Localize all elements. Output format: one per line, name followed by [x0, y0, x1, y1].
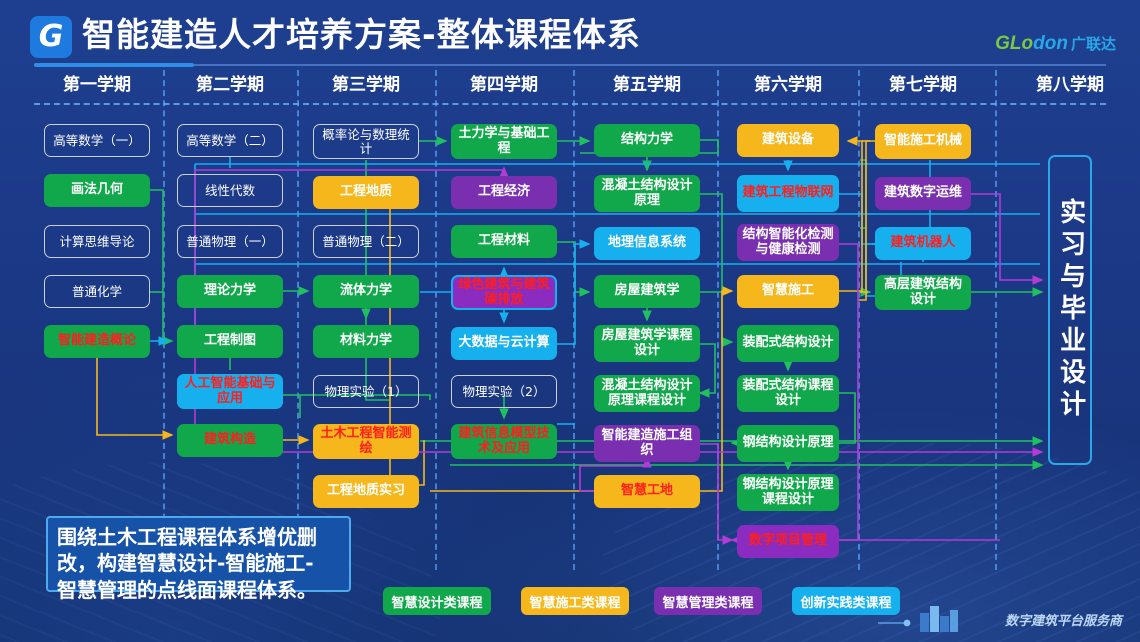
course-box-c4_3[interactable]: 工程材料: [451, 225, 557, 258]
course-box-c6_1[interactable]: 建筑设备: [737, 124, 839, 157]
course-label: 理论力学: [201, 284, 259, 299]
course-label: 人工智能基础与应用: [177, 377, 283, 406]
course-label: 普通物理（一）: [183, 235, 277, 249]
course-box-c1_1[interactable]: 高等数学（一）: [44, 124, 150, 157]
semester-header-7: 第七学期: [863, 70, 983, 95]
callout-line-2: 改，构建智慧设计-智能施工-: [57, 550, 340, 576]
course-label: 建筑机器人: [887, 236, 958, 251]
course-box-c4_2[interactable]: 工程经济: [451, 176, 557, 209]
course-label: 高等数学（二）: [183, 134, 277, 148]
course-label: 地理信息系统: [605, 236, 689, 251]
course-box-c4_7[interactable]: 建筑信息模型技术及应用: [451, 424, 557, 459]
course-box-c2_1[interactable]: 高等数学（二）: [177, 124, 283, 157]
course-box-c6_3[interactable]: 结构智能化检测与健康检测: [737, 224, 839, 261]
course-box-c3_7[interactable]: 土木工程智能测绘: [313, 424, 419, 459]
column-divider-7: [995, 70, 997, 570]
course-box-c6_4[interactable]: 智慧施工: [737, 275, 839, 308]
course-box-c7_4[interactable]: 高层建筑结构设计: [875, 275, 971, 310]
footer-brand: 数字建筑平台服务商: [878, 604, 1122, 634]
column-divider-3: [435, 70, 437, 570]
course-box-c5_2[interactable]: 混凝土结构设计原理: [594, 175, 700, 212]
course-label: 工程经济: [475, 185, 533, 200]
course-label: 建筑数字运维: [881, 186, 965, 201]
brand-part-glo: GLo: [995, 33, 1033, 54]
course-label: 智慧工地: [618, 484, 676, 499]
course-box-c1_4[interactable]: 普通化学: [44, 275, 150, 308]
course-label: 土木工程智能测绘: [313, 427, 419, 456]
course-box-c7_2[interactable]: 建筑数字运维: [875, 177, 971, 210]
semester-header-1: 第一学期: [37, 70, 157, 95]
course-label: 实习与毕业设计: [1052, 198, 1087, 422]
semester-header-6: 第六学期: [728, 70, 848, 95]
course-label: 绿色建筑与建筑碳排放: [453, 278, 555, 307]
course-label: 土力学与基础工程: [451, 127, 557, 156]
semester-header-3: 第三学期: [306, 70, 426, 95]
callout-line-1: 围绕土木工程课程体系增优删: [57, 524, 340, 550]
course-label: 建筑设备: [759, 133, 817, 148]
course-label: 数字项目管理: [746, 534, 830, 549]
course-label: 房屋建筑学课程设计: [594, 329, 700, 358]
callout-line-3: 智慧管理的点线面课程体系。: [57, 577, 340, 603]
course-box-c2_7[interactable]: 建筑构造: [177, 424, 283, 457]
semester-header-8: 第八学期: [1010, 70, 1130, 95]
header-divider-accent: [34, 63, 194, 67]
course-box-c6_9[interactable]: 数字项目管理: [737, 525, 839, 558]
brand-part-cn: 广联达: [1071, 36, 1116, 53]
course-label: 普通物理（二）: [319, 235, 413, 249]
course-box-c8_1[interactable]: 实习与毕业设计: [1048, 155, 1092, 465]
glodon-logo-icon: G: [30, 16, 72, 58]
course-label: 建筑构造: [201, 433, 259, 448]
course-label: 建筑信息模型技术及应用: [451, 427, 557, 456]
course-box-c3_2[interactable]: 工程地质: [313, 176, 419, 209]
brand-part-don: don: [1033, 33, 1068, 54]
course-box-c5_3[interactable]: 地理信息系统: [594, 227, 700, 260]
column-divider-2: [297, 70, 299, 570]
course-box-c5_6[interactable]: 混凝土结构设计原理课程设计: [594, 375, 700, 412]
course-label: 大数据与云计算: [455, 336, 552, 351]
legend-item-2[interactable]: 智慧施工类课程: [521, 587, 629, 615]
semester-header-row: 第一学期第二学期第三学期第四学期第五学期第六学期第七学期第八学期: [0, 70, 1140, 104]
course-box-c4_4[interactable]: 绿色建筑与建筑碳排放: [451, 275, 557, 310]
header: G 智能建造人才培养方案-整体课程体系 GLodon广联达: [0, 0, 1140, 62]
course-label: 结构智能化检测与健康检测: [737, 228, 839, 257]
logo-letter: G: [39, 22, 64, 52]
column-divider-6: [858, 70, 860, 570]
slide-canvas: G 智能建造人才培养方案-整体课程体系 GLodon广联达 第一学期第二学期第三…: [0, 0, 1140, 642]
course-label: 工程地质: [337, 185, 395, 200]
course-label: 智能建造施工组织: [594, 429, 700, 458]
course-box-c5_1[interactable]: 结构力学: [594, 124, 700, 157]
legend-item-3[interactable]: 智慧管理类课程: [654, 587, 762, 615]
course-label: 画法几何: [68, 183, 126, 198]
brand-wordmark: GLodon广联达: [995, 33, 1116, 55]
column-divider-1: [163, 70, 165, 570]
course-label: 普通化学: [69, 285, 125, 299]
summary-callout: 围绕土木工程课程体系增优删 改，构建智慧设计-智能施工- 智慧管理的点线面课程体…: [46, 516, 351, 592]
semester-header-2: 第二学期: [170, 70, 290, 95]
course-label: 装配式结构设计: [739, 336, 836, 351]
course-label: 智能施工机械: [881, 134, 965, 149]
course-box-c4_5[interactable]: 大数据与云计算: [451, 327, 557, 360]
course-label: 房屋建筑学: [611, 284, 682, 299]
header-divider: [34, 64, 1106, 66]
course-label: 高等数学（一）: [50, 134, 144, 148]
course-label: 混凝土结构设计原理课程设计: [594, 379, 700, 408]
course-box-c3_4[interactable]: 流体力学: [313, 275, 419, 308]
course-box-c7_1[interactable]: 智能施工机械: [875, 124, 971, 159]
course-label: 工程制图: [201, 334, 259, 349]
course-box-c2_6[interactable]: 人工智能基础与应用: [177, 374, 283, 409]
course-label: 混凝土结构设计原理: [594, 179, 700, 208]
course-label: 工程材料: [475, 234, 533, 249]
course-label: 钢结构设计原理: [739, 436, 836, 451]
legend-item-1[interactable]: 智慧设计类课程: [383, 587, 491, 615]
course-box-c1_3[interactable]: 计算思维导论: [44, 225, 150, 258]
course-box-c2_3[interactable]: 普通物理（一）: [177, 225, 283, 258]
course-box-c6_2[interactable]: 建筑工程物联网: [737, 175, 839, 212]
course-box-c4_1[interactable]: 土力学与基础工程: [451, 124, 557, 159]
course-label: 流体力学: [337, 284, 395, 299]
course-box-c6_8[interactable]: 钢结构设计原理课程设计: [737, 474, 839, 511]
course-box-c3_6[interactable]: 物理实验（1）: [313, 375, 419, 408]
course-label: 概率论与数理统计: [314, 128, 418, 156]
course-box-c3_8[interactable]: 工程地质实习: [313, 475, 419, 508]
course-label: 装配式结构课程设计: [737, 379, 839, 408]
column-divider-5: [717, 70, 719, 570]
column-divider-4: [573, 70, 575, 570]
course-label: 智能建造概论: [55, 334, 139, 349]
building-icon: [878, 604, 998, 634]
footer-slogan: 数字建筑平台服务商: [1005, 610, 1122, 629]
course-box-c3_5[interactable]: 材料力学: [313, 325, 419, 358]
course-box-c3_3[interactable]: 普通物理（二）: [313, 225, 419, 258]
course-box-c7_3[interactable]: 建筑机器人: [875, 227, 971, 260]
course-box-c4_6[interactable]: 物理实验（2）: [451, 375, 557, 408]
course-box-c3_1[interactable]: 概率论与数理统计: [313, 124, 419, 159]
course-box-c2_4[interactable]: 理论力学: [177, 275, 283, 308]
course-box-c2_2[interactable]: 线性代数: [177, 174, 283, 207]
course-label: 计算思维导论: [56, 235, 137, 249]
course-box-c6_5[interactable]: 装配式结构设计: [737, 325, 839, 362]
course-box-c5_5[interactable]: 房屋建筑学课程设计: [594, 325, 700, 362]
course-box-c1_2[interactable]: 画法几何: [44, 174, 150, 207]
course-box-c1_5[interactable]: 智能建造概论: [44, 325, 150, 358]
course-box-c6_6[interactable]: 装配式结构课程设计: [737, 375, 839, 412]
course-label: 材料力学: [337, 334, 395, 349]
page-title: 智能建造人才培养方案-整体课程体系: [82, 8, 641, 56]
semester-header-5: 第五学期: [587, 70, 707, 95]
course-label: 物理实验（2）: [460, 385, 549, 399]
course-box-c6_7[interactable]: 钢结构设计原理: [737, 425, 839, 462]
course-label: 高层建筑结构设计: [875, 278, 971, 307]
course-label: 工程地质实习: [324, 484, 408, 499]
course-label: 建筑工程物联网: [739, 186, 836, 201]
course-label: 线性代数: [202, 184, 258, 198]
course-label: 结构力学: [618, 133, 676, 148]
course-box-c5_4[interactable]: 房屋建筑学: [594, 275, 700, 308]
course-label: 钢结构设计原理课程设计: [737, 478, 839, 507]
course-label: 物理实验（1）: [322, 385, 411, 399]
course-label: 智慧施工: [759, 284, 817, 299]
course-box-c5_8[interactable]: 智慧工地: [594, 475, 700, 508]
semester-header-4: 第四学期: [444, 70, 564, 95]
semester-header-underline: [34, 103, 1106, 105]
course-box-c5_7[interactable]: 智能建造施工组织: [594, 425, 700, 462]
course-box-c2_5[interactable]: 工程制图: [177, 325, 283, 358]
